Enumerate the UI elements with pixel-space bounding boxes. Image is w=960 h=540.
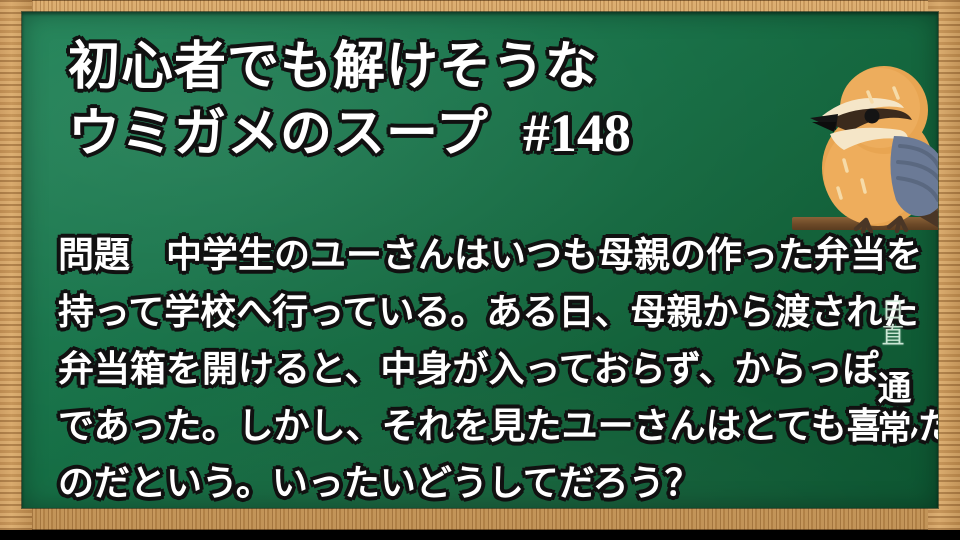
mode-label: 通常 — [868, 370, 914, 450]
quiz-body-text: 問題 中学生のユーさんはいつも母親の作った弁当を 持って学校へ行っている。ある日… — [58, 226, 888, 508]
screenshot-root: 初心者でも解けそうな ウミガメのスープ #148 問題 中学生のユーさんはいつも… — [0, 0, 960, 540]
episode-number: #148 — [523, 100, 631, 166]
chalkboard-surface: 初心者でも解けそうな ウミガメのスープ #148 問題 中学生のユーさんはいつも… — [22, 12, 938, 508]
body-line: 持って学校へ行っている。ある日、母親から渡された — [58, 283, 888, 340]
title-block: 初心者でも解けそうな ウミガメのスープ #148 — [68, 34, 788, 167]
title-line-2: ウミガメのスープ — [68, 101, 489, 167]
body-line: のだという。いったいどうしてだろう？ — [58, 454, 888, 508]
body-line: 問題 中学生のユーさんはいつも母親の作った弁当を — [58, 226, 888, 283]
body-line: であった。しかし、それを見たユーさんはとても喜んだ — [58, 397, 888, 454]
duty-panel: 日直 通常 — [858, 298, 924, 450]
title-line-1: 初心者でも解けそうな — [68, 34, 788, 100]
duty-label: 日直 — [876, 298, 906, 348]
body-line: 弁当箱を開けると、中身が入っておらず、からっぽ — [58, 340, 888, 397]
shrike-bird-illustration — [808, 64, 938, 244]
title-line-2-row: ウミガメのスープ #148 — [68, 100, 788, 167]
